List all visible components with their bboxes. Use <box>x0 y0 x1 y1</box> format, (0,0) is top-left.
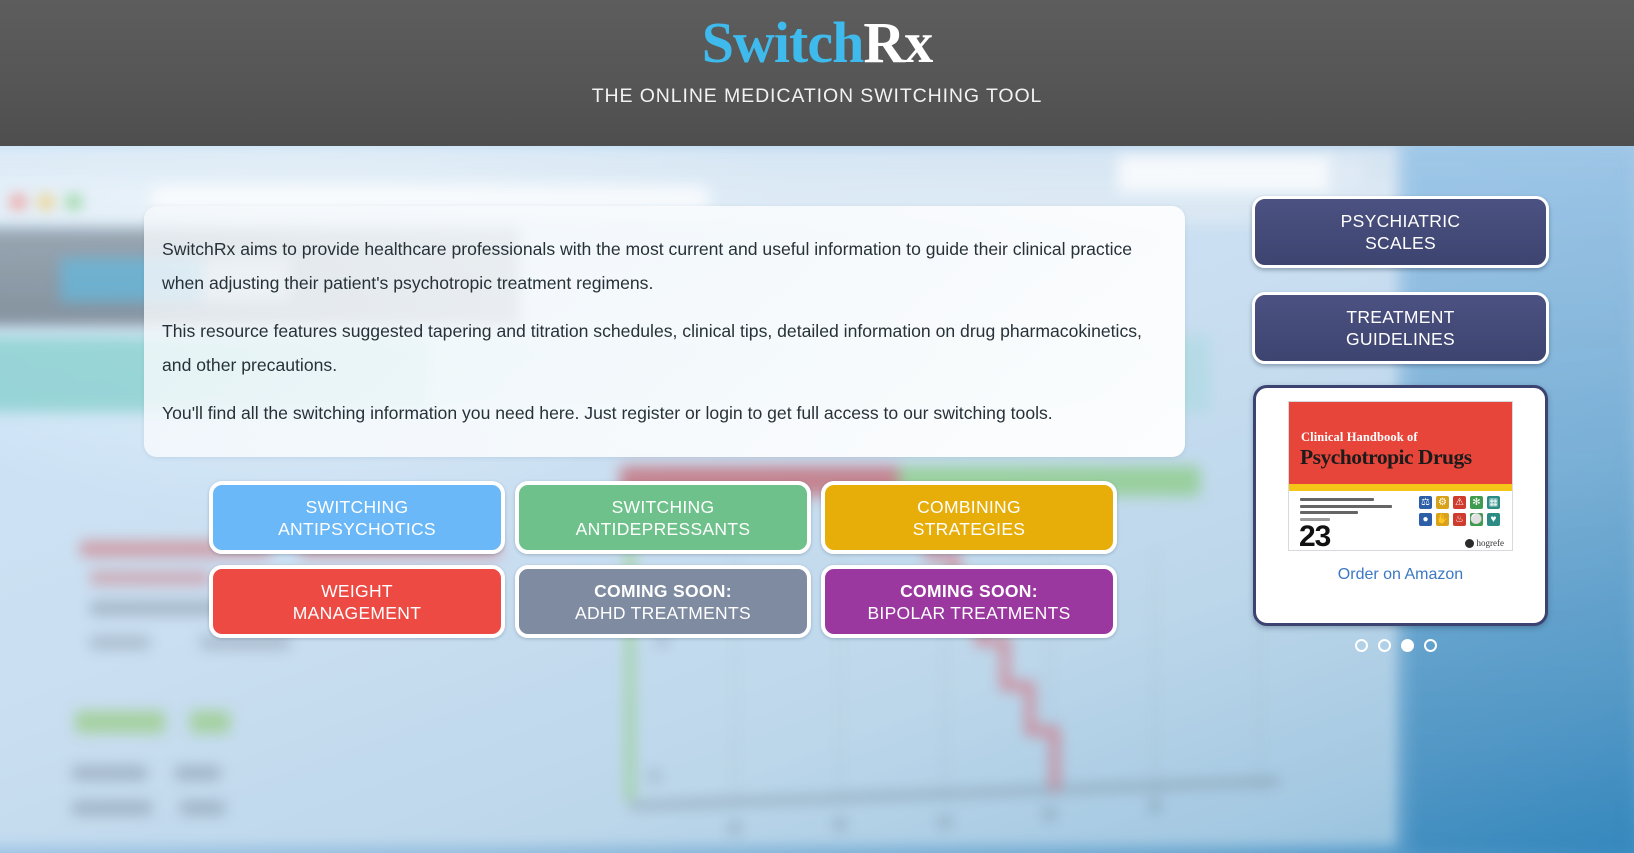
background-text-line <box>72 801 152 815</box>
carousel-dot-4[interactable] <box>1424 639 1437 652</box>
leaf-icon: ✻ <box>1470 496 1483 509</box>
book-cover-icon-row: ⚖ ⚙ ⚠ ✻ ▦ ● ✋ ♨ ⚪ ♥ <box>1419 496 1503 528</box>
carousel-dots <box>1355 639 1437 652</box>
sidebar-button-line2: SCALES <box>1341 232 1461 254</box>
carousel-dot-1[interactable] <box>1355 639 1368 652</box>
publisher-name: hogrefe <box>1477 538 1504 548</box>
background-text-line <box>90 636 150 649</box>
brain-icon: ♨ <box>1453 513 1466 526</box>
category-label-line2: STRATEGIES <box>913 518 1026 540</box>
book-cover-top-band: Clinical Handbook of Psychotropic Drugs <box>1289 402 1512 484</box>
publisher-mark-icon <box>1465 539 1474 548</box>
intro-paragraph-1: SwitchRx aims to provide healthcare prof… <box>162 232 1149 300</box>
intro-paragraph-3: You'll find all the switching informatio… <box>162 396 1149 430</box>
category-label-line1: SWITCHING <box>278 496 436 518</box>
category-label-line2: ANTIPSYCHOTICS <box>278 518 436 540</box>
site-header: SwitchRx THE ONLINE MEDICATION SWITCHING… <box>0 0 1634 146</box>
sidebar-button-line2: GUIDELINES <box>1346 328 1455 350</box>
category-button-combining-strategies[interactable]: COMBINING STRATEGIES <box>821 481 1117 554</box>
book-edition-number: 23 <box>1299 520 1330 551</box>
category-label-line1: COMING SOON: <box>867 580 1070 602</box>
category-label-line1: WEIGHT <box>293 580 421 602</box>
logo-switch-text: Switch <box>702 10 864 75</box>
sidebar-button-treatment-guidelines[interactable]: TREATMENT GUIDELINES <box>1252 292 1549 364</box>
mortar-pestle-icon: ⚖ <box>1419 496 1432 509</box>
heart-icon: ♥ <box>1487 513 1500 526</box>
warning-icon: ⚠ <box>1453 496 1466 509</box>
book-cover-lower-area: 23 ⚖ ⚙ ⚠ ✻ ▦ ● ✋ ♨ ⚪ ♥ hogrefe <box>1289 491 1512 551</box>
background-text-line <box>180 801 225 815</box>
site-logo[interactable]: SwitchRx <box>0 14 1634 72</box>
grid-icon: ▦ <box>1487 496 1500 509</box>
category-label-line2: MANAGEMENT <box>293 602 421 624</box>
carousel-dot-2[interactable] <box>1378 639 1391 652</box>
category-label-line2: BIPOLAR TREATMENTS <box>867 602 1070 624</box>
logo-rx-text: Rx <box>863 10 932 75</box>
category-label-line1: COMBINING <box>913 496 1026 518</box>
category-button-switching-antidepressants[interactable]: SWITCHING ANTIDEPRESSANTS <box>515 481 811 554</box>
background-text-line <box>175 766 220 780</box>
site-tagline: THE ONLINE MEDICATION SWITCHING TOOL <box>0 85 1634 108</box>
order-on-amazon-link[interactable]: Order on Amazon <box>1338 566 1463 584</box>
book-promo-card[interactable]: Clinical Handbook of Psychotropic Drugs … <box>1253 385 1548 626</box>
category-button-bipolar-treatments[interactable]: COMING SOON: BIPOLAR TREATMENTS <box>821 565 1117 638</box>
category-button-grid: SWITCHING ANTIPSYCHOTICS SWITCHING ANTID… <box>209 481 1121 638</box>
category-label-line2: ADHD TREATMENTS <box>575 602 751 624</box>
book-cover-subtitle: Clinical Handbook of <box>1301 430 1418 445</box>
book-cover-yellow-stripe <box>1289 484 1512 491</box>
intro-paragraph-2: This resource features suggested taperin… <box>162 314 1149 382</box>
category-button-switching-antipsychotics[interactable]: SWITCHING ANTIPSYCHOTICS <box>209 481 505 554</box>
background-text-line <box>190 711 230 733</box>
background-window-traffic-lights <box>8 194 128 210</box>
book-publisher-logo: hogrefe <box>1465 538 1504 548</box>
book-cover-title: Psychotropic Drugs <box>1300 445 1472 470</box>
background-text-line <box>90 571 210 585</box>
category-label-line1: SWITCHING <box>576 496 751 518</box>
sidebar-button-line1: PSYCHIATRIC <box>1341 210 1461 232</box>
page-root: SwitchRx THE ONLINE MEDICATION SWITCHING… <box>0 0 1634 853</box>
pill-icon: ⚪ <box>1470 513 1483 526</box>
carousel-dot-3[interactable] <box>1401 639 1414 652</box>
background-text-line <box>75 711 165 733</box>
category-label-line1: COMING SOON: <box>575 580 751 602</box>
category-button-weight-management[interactable]: WEIGHT MANAGEMENT <box>209 565 505 638</box>
book-cover-image: Clinical Handbook of Psychotropic Drugs … <box>1288 401 1513 551</box>
background-search-box <box>1118 156 1333 192</box>
right-sidebar: PSYCHIATRIC SCALES TREATMENT GUIDELINES <box>1252 196 1549 388</box>
speech-bubble-icon: ● <box>1419 513 1432 526</box>
hand-icon: ✋ <box>1436 513 1449 526</box>
intro-panel: SwitchRx aims to provide healthcare prof… <box>144 206 1185 457</box>
category-label-line2: ANTIDEPRESSANTS <box>576 518 751 540</box>
background-search-icon <box>1330 158 1364 190</box>
sidebar-button-line1: TREATMENT <box>1346 306 1455 328</box>
background-text-line <box>72 766 147 780</box>
sidebar-button-psychiatric-scales[interactable]: PSYCHIATRIC SCALES <box>1252 196 1549 268</box>
flask-icon: ⚙ <box>1436 496 1449 509</box>
category-button-adhd-treatments[interactable]: COMING SOON: ADHD TREATMENTS <box>515 565 811 638</box>
